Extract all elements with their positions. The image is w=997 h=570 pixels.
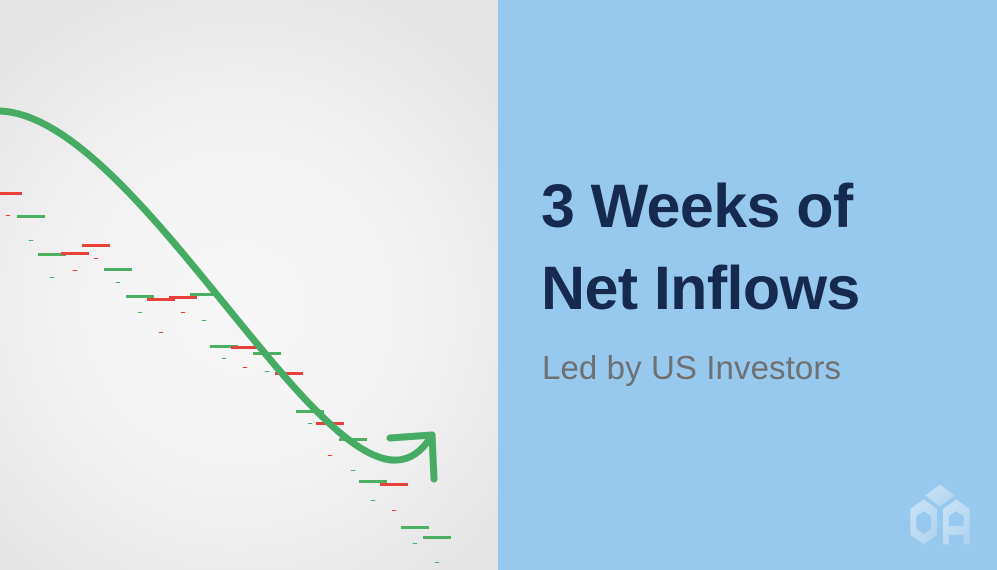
candle-body xyxy=(423,536,451,539)
candle-wick xyxy=(181,312,185,313)
candle-wick xyxy=(116,282,120,283)
candle-wick xyxy=(222,358,226,359)
candle-wick xyxy=(308,423,312,424)
candle-body xyxy=(104,268,132,271)
oa-hexagon-logo-icon xyxy=(903,480,977,554)
candle-body xyxy=(61,252,89,255)
infographic-canvas: 3 Weeks of Net Inflows Led by US Investo… xyxy=(0,0,997,570)
candle-series xyxy=(0,192,451,563)
candle-body xyxy=(401,526,429,529)
candle-wick xyxy=(371,500,375,501)
candle-wick xyxy=(351,470,355,471)
candle-wick xyxy=(6,215,10,216)
candle-wick xyxy=(243,367,247,368)
candle-body xyxy=(359,480,387,483)
candle-body xyxy=(380,483,408,486)
candle-wick xyxy=(73,270,77,271)
page-subtitle: Led by US Investors xyxy=(542,349,841,387)
candle-body xyxy=(169,296,197,299)
candle-wick xyxy=(50,277,54,278)
candle-wick xyxy=(159,332,163,333)
candle-body xyxy=(126,295,154,298)
candle-wick xyxy=(435,562,439,563)
arrow-shaft xyxy=(0,111,432,460)
candle-wick xyxy=(94,258,98,259)
headline-panel: 3 Weeks of Net Inflows Led by US Investo… xyxy=(498,0,997,570)
page-title: 3 Weeks of Net Inflows xyxy=(541,166,971,329)
candle-wick xyxy=(29,240,33,241)
candle-wick xyxy=(265,371,269,372)
candlestick-chart-panel xyxy=(0,0,498,570)
candlestick-chart-svg xyxy=(0,0,498,570)
candle-wick xyxy=(328,455,332,456)
candle-wick xyxy=(413,543,417,544)
candle-body xyxy=(0,192,22,195)
candle-wick xyxy=(138,312,142,313)
candle-wick xyxy=(202,320,206,321)
candle-wick xyxy=(392,510,396,511)
candle-body xyxy=(82,244,110,247)
candle-body xyxy=(17,215,45,218)
up-trend-arrow xyxy=(0,111,434,479)
